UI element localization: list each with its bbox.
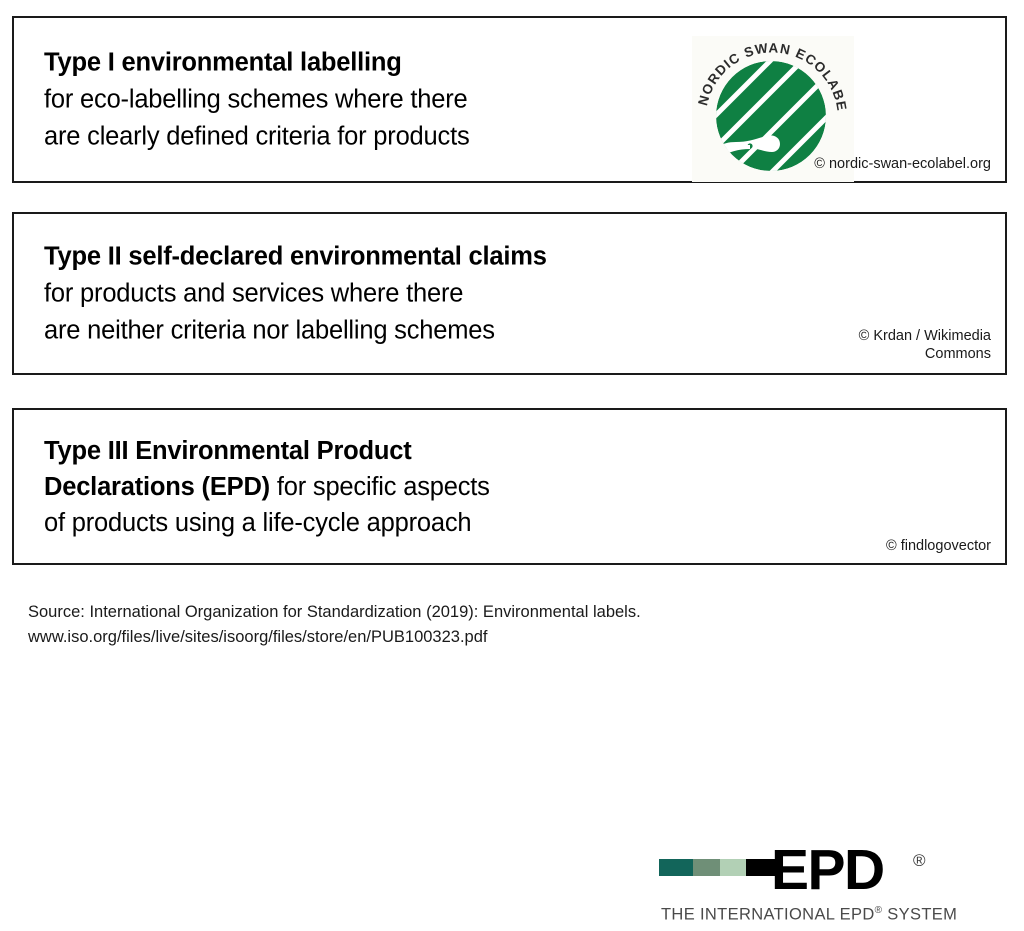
epd-bar-segment-2 xyxy=(693,859,721,876)
type-2-attribution-line-1: © Krdan / Wikimedia xyxy=(859,327,991,345)
source-note: Source: International Organization for S… xyxy=(28,600,641,650)
epd-tagline-registered-mark: ® xyxy=(875,905,883,916)
epd-tagline-before: THE INTERNATIONAL EPD xyxy=(661,906,875,924)
epd-tagline: THE INTERNATIONAL EPD® SYSTEM xyxy=(661,905,957,925)
type-1-line-3: are clearly defined criteria for product… xyxy=(44,118,470,155)
type-1-label-box: Type I environmental labelling for eco-l… xyxy=(12,16,1007,183)
epd-registered-mark: ® xyxy=(913,851,926,871)
source-line-1: Source: International Organization for S… xyxy=(28,600,641,625)
type-3-line-3: of products using a life-cycle approach xyxy=(44,505,490,541)
source-line-2: www.iso.org/files/live/sites/isoorg/file… xyxy=(28,625,641,650)
type-2-label-box: Type II self-declared environmental clai… xyxy=(12,212,1007,375)
epd-color-bar xyxy=(659,859,775,876)
type-3-description: Type III Environmental Product Declarati… xyxy=(44,433,490,541)
type-3-heading-line-1: Type III Environmental Product xyxy=(44,437,412,465)
type-2-description: Type II self-declared environmental clai… xyxy=(44,238,547,349)
type-3-heading-line-2: Declarations (EPD) xyxy=(44,473,270,501)
type-2-line-2: for products and services where there xyxy=(44,275,547,312)
type-2-attribution-line-2: Commons xyxy=(859,345,991,363)
type-3-attribution: © findlogovector xyxy=(886,537,991,555)
international-epd-system-logo: EPD ® THE INTERNATIONAL EPD® SYSTEM xyxy=(659,853,964,931)
type-1-attribution: © nordic-swan-ecolabel.org xyxy=(814,155,991,173)
environmental-labels-figure: Type I environmental labelling for eco-l… xyxy=(0,0,1024,670)
type-1-description: Type I environmental labelling for eco-l… xyxy=(44,44,470,155)
type-1-heading: Type I environmental labelling xyxy=(44,48,402,76)
epd-bar-segment-3 xyxy=(720,859,746,876)
type-2-line-3: are neither criteria nor labelling schem… xyxy=(44,312,547,349)
type-1-line-2: for eco-labelling schemes where there xyxy=(44,81,470,118)
type-3-label-box: Type III Environmental Product Declarati… xyxy=(12,408,1007,565)
type-2-attribution: © Krdan / Wikimedia Commons xyxy=(859,327,991,363)
type-2-heading: Type II self-declared environmental clai… xyxy=(44,242,547,270)
type-3-line-2-tail: for specific aspects xyxy=(270,473,490,501)
epd-wordmark: EPD xyxy=(771,842,884,899)
epd-bar-segment-1 xyxy=(659,859,693,876)
epd-tagline-after: SYSTEM xyxy=(882,906,957,924)
